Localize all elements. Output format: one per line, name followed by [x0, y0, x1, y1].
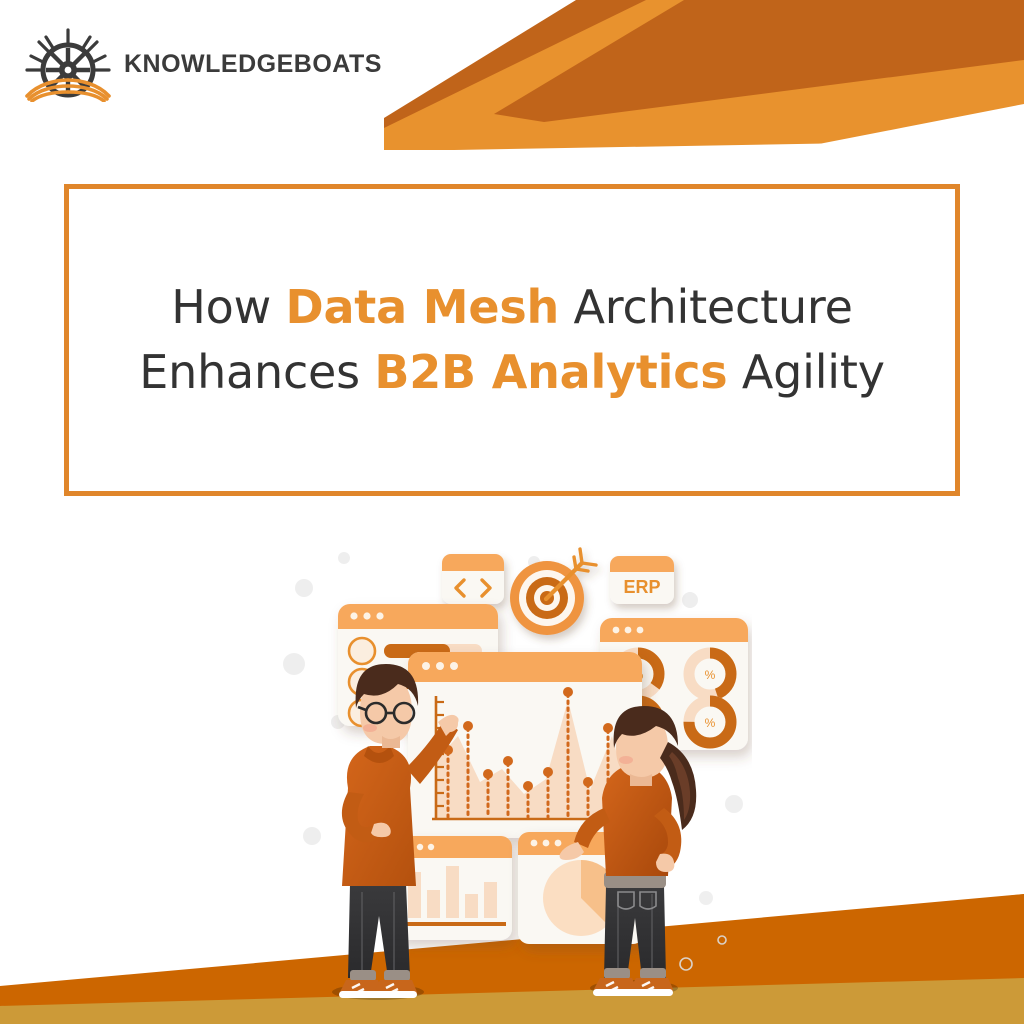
target-bullseye-icon: [510, 549, 596, 635]
title-line-2-part-2: Agility: [727, 345, 884, 399]
title-line-2-highlight: B2B Analytics: [374, 345, 727, 399]
svg-text:%: %: [705, 716, 716, 730]
top-right-ribbon: [384, 0, 1024, 150]
title-line-1-part-2: Architecture: [559, 280, 853, 334]
title-line-1-highlight: Data Mesh: [285, 280, 559, 334]
title-line-2-part-1: Enhances: [139, 345, 374, 399]
brand-logo[interactable]: KNOWLEDGEBOATS: [22, 26, 382, 102]
erp-badge-label: ERP: [623, 577, 660, 597]
ships-wheel-book-icon: [22, 26, 114, 102]
illustration-svg: ERP: [282, 536, 752, 1024]
window-dots: [350, 612, 383, 619]
svg-text:%: %: [705, 668, 716, 682]
decorative-rings: [680, 717, 730, 970]
title-line-2: Enhances B2B Analytics Agility: [139, 340, 885, 405]
erp-badge: ERP: [610, 556, 674, 604]
title-line-1-part-1: How: [171, 280, 285, 334]
poster-canvas: KNOWLEDGEBOATS How Data Mesh Architectur…: [0, 0, 1024, 1024]
title-frame: How Data Mesh Architecture Enhances B2B …: [64, 184, 960, 496]
title-line-1: How Data Mesh Architecture: [171, 275, 852, 340]
analytics-illustration: ERP: [282, 536, 752, 1024]
brand-name: KNOWLEDGEBOATS: [124, 52, 382, 77]
code-badge: [442, 554, 504, 604]
